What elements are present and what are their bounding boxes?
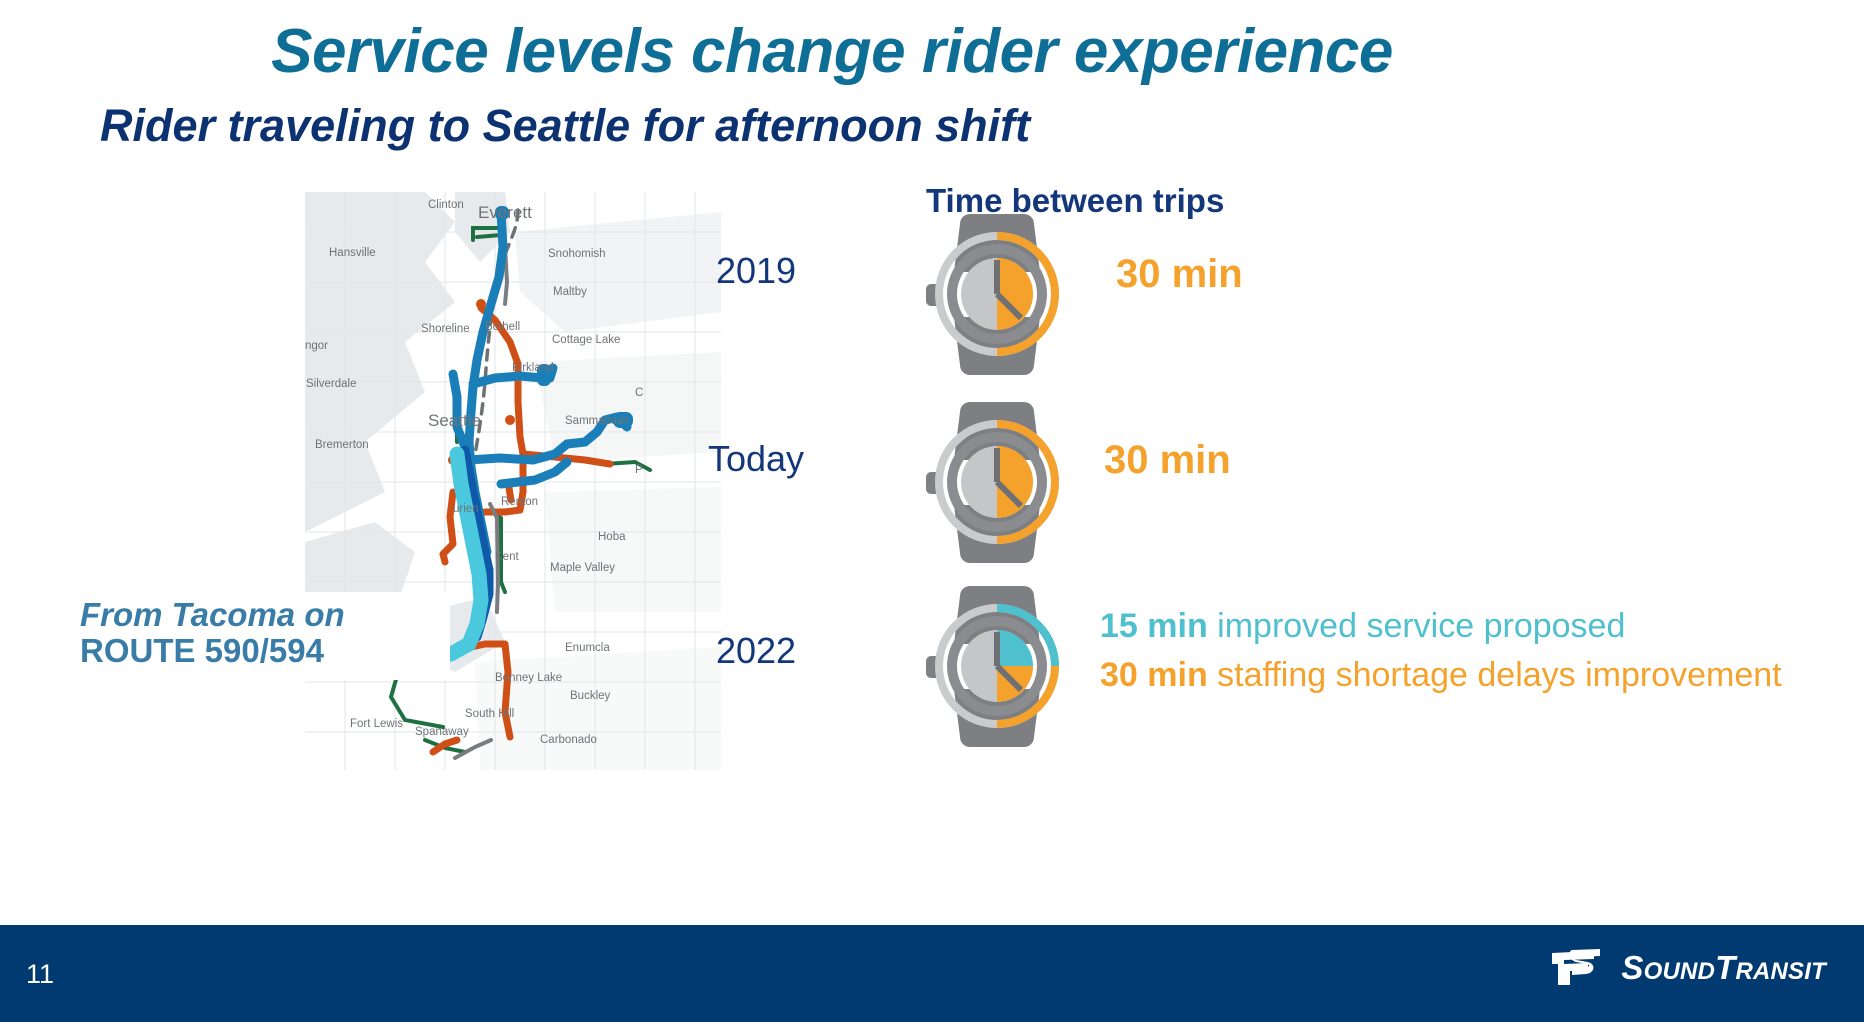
- trip-row: Today 30 min: [660, 378, 1864, 578]
- watch-icon-2019: [912, 202, 1082, 387]
- map-place-label: Cottage Lake: [552, 334, 620, 346]
- transit-map: ClintonEverettHansvilleSnohomishMaltbySh…: [305, 192, 721, 770]
- map-place-label: Kent: [495, 551, 519, 563]
- map-place-label: South Hill: [465, 708, 514, 720]
- sound-transit-logo: SOUNDTRANSIT: [1548, 947, 1826, 989]
- map-place-label: Sammamish: [565, 415, 629, 427]
- map-place-label: Carbonado: [540, 734, 597, 746]
- map-place-label: Maltby: [553, 286, 587, 298]
- map-place-label: Hoba: [598, 531, 626, 543]
- watch-icon-2022: [912, 574, 1082, 759]
- map-place-label: Maple Valley: [550, 562, 615, 574]
- map-place-label: Buckley: [570, 690, 611, 702]
- map-place-label: Fort Lewis: [350, 718, 403, 730]
- route-number-label: ROUTE 590/594: [80, 633, 440, 670]
- map-place-label: Renton: [501, 496, 538, 508]
- sound-transit-wordmark: SOUNDTRANSIT: [1621, 949, 1826, 987]
- trip-row: 2019 30 min: [660, 190, 1864, 390]
- map-place-label: Seattle: [428, 411, 481, 430]
- trip-year-label: Today: [676, 438, 836, 480]
- map-place-label: Enumcla: [565, 642, 610, 654]
- map-place-label: Spanaway: [415, 726, 469, 738]
- detail-value-15min: 15 min: [1100, 607, 1208, 645]
- map-place-label: Bonney Lake: [495, 672, 562, 684]
- detail-line-delays: 30 min staffing shortage delays improvem…: [1100, 651, 1864, 700]
- map-place-label: Everett: [478, 203, 532, 222]
- detail-value-30min: 30 min: [1100, 656, 1208, 694]
- map-place-label: Clinton: [428, 199, 464, 211]
- page-number: 11: [26, 959, 54, 990]
- detail-text-delays: staffing shortage delays improvement: [1208, 656, 1782, 694]
- trip-year-label: 2022: [676, 630, 836, 672]
- slide-footer: 11 SOUNDTRANSIT: [0, 925, 1864, 1022]
- map-place-label: P: [635, 464, 643, 476]
- route-origin-label: From Tacoma on: [80, 598, 440, 633]
- trip-value-2019: 30 min: [1116, 252, 1243, 297]
- map-place-label: Snohomish: [548, 248, 606, 260]
- map-place-label: ngor: [305, 340, 328, 352]
- map-place-label: Kirkland: [512, 362, 554, 374]
- map-place-label: Bremerton: [315, 439, 369, 451]
- map-place-label: urien: [453, 503, 479, 515]
- map-place-label: Bothell: [485, 321, 520, 333]
- detail-line-improved: 15 min improved service proposed: [1100, 602, 1864, 651]
- sound-transit-mark-icon: [1548, 947, 1608, 989]
- detail-text-improved: improved service proposed: [1208, 607, 1626, 645]
- trip-year-label: 2019: [676, 250, 836, 292]
- trip-value-today: 30 min: [1104, 438, 1231, 483]
- map-place-label: Silverdale: [306, 378, 357, 390]
- map-place-label: Shoreline: [421, 323, 470, 335]
- map-place-label: C: [635, 387, 643, 399]
- trip-detail-2022: 15 min improved service proposed 30 min …: [1100, 602, 1864, 701]
- page-subtitle: Rider traveling to Seattle for afternoon…: [100, 100, 1030, 152]
- route-callout: From Tacoma on ROUTE 590/594: [70, 592, 450, 680]
- page-title: Service levels change rider experience: [0, 16, 1664, 87]
- watch-icon-today: [912, 390, 1082, 575]
- map-place-label: Hansville: [329, 247, 376, 259]
